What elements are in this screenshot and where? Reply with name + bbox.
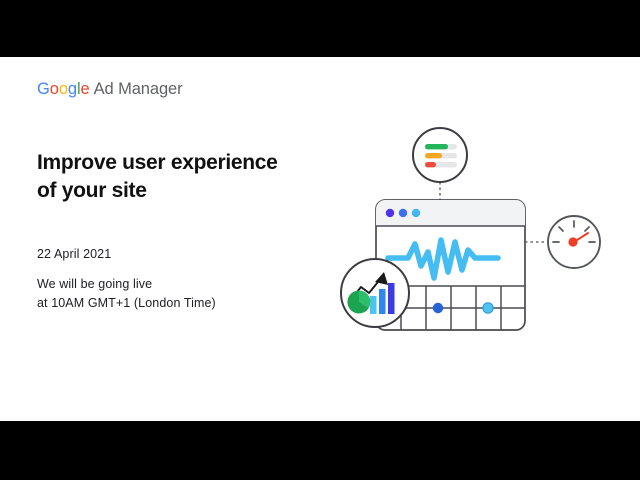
headline-line-2: of your site [37, 177, 337, 205]
titlebar-dot-2 [399, 209, 407, 217]
score-bar-orange [425, 153, 442, 158]
letterbox-top [0, 0, 640, 57]
score-bar-red [425, 162, 436, 167]
event-live-details: We will be going live at 10AM GMT+1 (Lon… [37, 275, 216, 314]
browser-titlebar [376, 200, 525, 226]
analytics-bar-3 [388, 283, 395, 314]
analytics-bar-2 [379, 289, 386, 314]
google-wordmark: Google [37, 80, 90, 98]
analytics-badge-circle [341, 259, 409, 327]
badge-analytics [341, 259, 409, 327]
letterbox-bottom [0, 421, 640, 480]
hero-illustration [320, 120, 620, 350]
slide-canvas: GoogleAd Manager Improve user experience… [0, 57, 640, 421]
brand-lockup: GoogleAd Manager [37, 81, 183, 98]
page-title: Improve user experience of your site [37, 149, 337, 205]
grid-dot-1 [433, 303, 443, 313]
video-frame: GoogleAd Manager Improve user experience… [0, 0, 640, 480]
grid-dot-2 [483, 303, 493, 313]
event-date: 22 April 2021 [37, 247, 111, 261]
badge-scores [413, 128, 467, 182]
score-bar-green [425, 144, 448, 149]
headline-line-1: Improve user experience [37, 149, 337, 177]
product-name: Ad Manager [94, 80, 183, 98]
titlebar-dot-3 [412, 209, 420, 217]
analytics-pie [347, 290, 370, 313]
live-line-2: at 10AM GMT+1 (London Time) [37, 294, 216, 313]
titlebar-dot-1 [386, 209, 394, 217]
badge-gauge [548, 216, 600, 268]
live-line-1: We will be going live [37, 275, 216, 294]
analytics-bar-1 [370, 296, 377, 314]
gauge-hub [568, 237, 577, 246]
